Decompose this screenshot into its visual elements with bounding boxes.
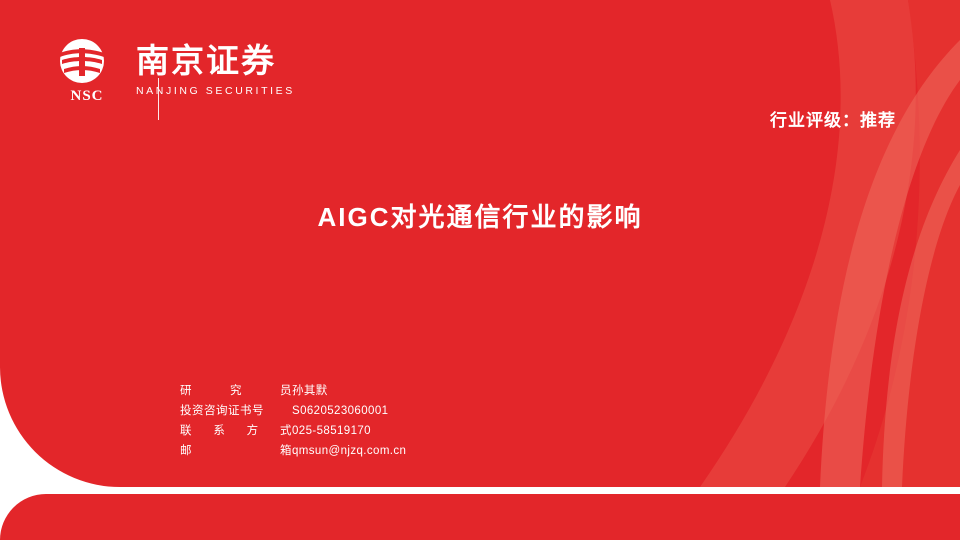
logo-abbr-text: NSC bbox=[70, 88, 103, 105]
logo-mark-group: NSC bbox=[50, 38, 124, 105]
meta-row-contact: 联系方式 025-58519170 bbox=[180, 421, 406, 441]
industry-rating: 行业评级：推荐 bbox=[770, 106, 896, 131]
meta-row-email: 邮箱 qmsun@njzq.com.cn bbox=[180, 441, 406, 461]
report-meta: 研究员 孙其默 投资咨询证书号 S0620523060001 联系方式 025-… bbox=[180, 381, 406, 461]
logo-chinese-name: 南京证券 bbox=[136, 46, 295, 79]
meta-row-license: 投资咨询证书号 S0620523060001 bbox=[180, 401, 406, 421]
logo-english-name: NANJING SECURITIES bbox=[136, 85, 295, 97]
meta-label-researcher: 研究员 bbox=[180, 381, 292, 401]
meta-value-contact: 025-58519170 bbox=[292, 421, 371, 441]
meta-value-researcher: 孙其默 bbox=[292, 381, 328, 401]
meta-value-license: S0620523060001 bbox=[292, 401, 388, 421]
bottom-red-bar bbox=[0, 494, 960, 540]
meta-label-license: 投资咨询证书号 bbox=[180, 401, 292, 421]
company-logo: NSC 南京证券 NANJING SECURITIES bbox=[50, 38, 295, 105]
decorative-swoosh bbox=[530, 0, 960, 487]
logo-emblem-icon bbox=[50, 38, 114, 84]
logo-divider bbox=[158, 78, 159, 120]
meta-label-email: 邮箱 bbox=[180, 441, 292, 461]
page-title: AIGC对光通信行业的影响 bbox=[0, 197, 960, 234]
logo-text-group: 南京证券 NANJING SECURITIES bbox=[124, 46, 295, 97]
red-background-panel: NSC 南京证券 NANJING SECURITIES 行业评级：推荐 AIGC… bbox=[0, 0, 960, 487]
meta-label-contact: 联系方式 bbox=[180, 421, 292, 441]
meta-value-email: qmsun@njzq.com.cn bbox=[292, 441, 406, 461]
slide-root: NSC 南京证券 NANJING SECURITIES 行业评级：推荐 AIGC… bbox=[0, 0, 960, 540]
meta-row-researcher: 研究员 孙其默 bbox=[180, 381, 406, 401]
